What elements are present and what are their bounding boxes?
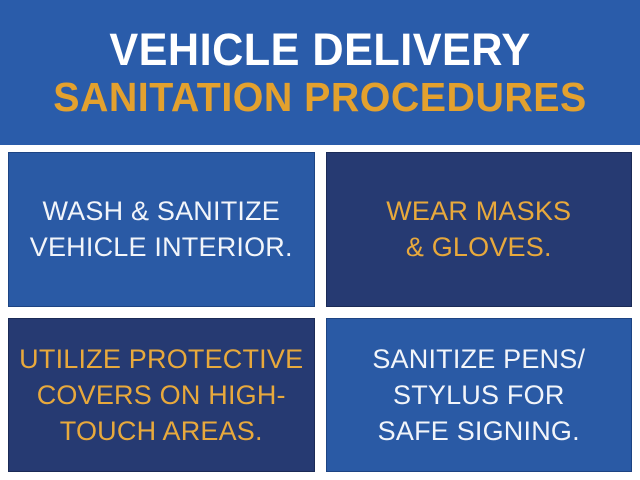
panel-text: SANITIZE PENS/ STYLUS FOR SAFE SIGNING. <box>372 341 585 449</box>
panel-sanitize-pens-stylus: SANITIZE PENS/ STYLUS FOR SAFE SIGNING. <box>326 318 633 473</box>
panel-text: WASH & SANITIZE VEHICLE INTERIOR. <box>30 193 293 265</box>
panel-wash-sanitize-interior: WASH & SANITIZE VEHICLE INTERIOR. <box>8 152 315 307</box>
procedure-panel-grid: WASH & SANITIZE VEHICLE INTERIOR. WEAR M… <box>8 152 632 472</box>
poster-title-primary: VEHICLE DELIVERY <box>13 27 627 72</box>
poster-title-secondary: SANITATION PROCEDURES <box>13 77 627 118</box>
panel-text: WEAR MASKS & GLOVES. <box>386 193 571 265</box>
panel-protective-covers: UTILIZE PROTECTIVE COVERS ON HIGH- TOUCH… <box>8 318 315 473</box>
poster-header-banner: VEHICLE DELIVERY SANITATION PROCEDURES <box>0 0 640 145</box>
panel-text: UTILIZE PROTECTIVE COVERS ON HIGH- TOUCH… <box>19 341 303 449</box>
panel-wear-masks-gloves: WEAR MASKS & GLOVES. <box>326 152 633 307</box>
sanitation-procedures-poster: VEHICLE DELIVERY SANITATION PROCEDURES W… <box>0 0 640 480</box>
